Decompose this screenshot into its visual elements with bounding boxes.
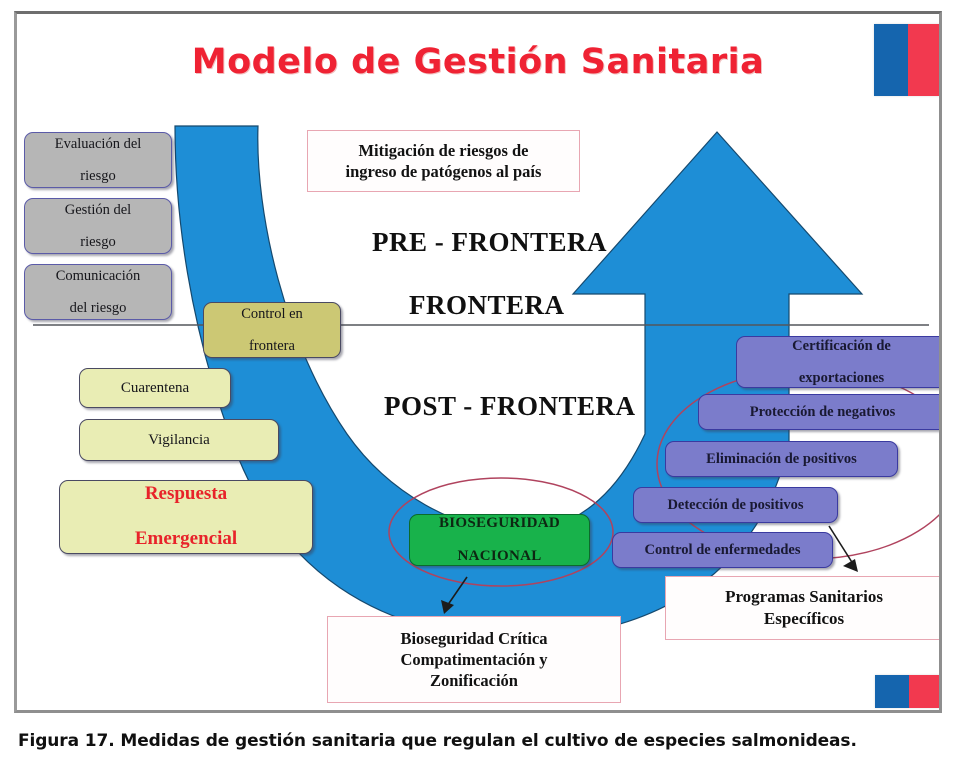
node-vigilancia[interactable]: Vigilancia <box>79 419 279 461</box>
node-label-line1: Vigilancia <box>144 432 214 449</box>
node-deteccion-de-positivos[interactable]: Detección de positivos <box>633 487 838 523</box>
node-label-line1: Control de enfermedades <box>641 542 805 558</box>
stage-label-frontera: FRONTERA <box>409 290 565 321</box>
logo-flag-red-band <box>909 675 939 708</box>
logo-flag-top-right <box>874 24 939 96</box>
stage-label-pre-frontera: PRE - FRONTERA <box>372 227 607 258</box>
callout-health-programs-line2: Específicos <box>725 608 883 630</box>
node-label-line2: exportaciones <box>788 370 895 386</box>
node-label-line1: Protección de negativos <box>746 404 900 420</box>
node-evaluacion-del-riesgo[interactable]: Evaluación del riesgo <box>24 132 172 188</box>
node-label-line1: Control en <box>237 306 307 322</box>
figure-title: Modelo de Gestión Sanitaria <box>17 42 939 82</box>
figure-canvas: Modelo de Gestión Sanitaria PRE - FRONTE… <box>17 14 939 710</box>
node-label-line1: Detección de positivos <box>663 497 807 513</box>
node-comunicacion-del-riesgo[interactable]: Comunicación del riesgo <box>24 264 172 320</box>
node-label-line2: frontera <box>237 338 307 354</box>
node-label-line2: del riesgo <box>52 300 145 316</box>
programs-callout-arrow <box>829 526 858 572</box>
node-label-line2: riesgo <box>61 234 135 250</box>
node-label-line2: riesgo <box>51 168 146 184</box>
callout-critical-biosecurity-line2: Compatimentación y <box>400 649 547 670</box>
logo-flag-bottom-right <box>875 675 939 708</box>
node-label-line1: Gestión del <box>61 202 135 218</box>
logo-flag-blue-band <box>874 24 908 96</box>
node-label-line1: Comunicación <box>52 268 145 284</box>
logo-flag-blue-band <box>875 675 909 708</box>
node-label-line1: Evaluación del <box>51 136 146 152</box>
node-gestion-del-riesgo[interactable]: Gestión del riesgo <box>24 198 172 254</box>
node-eliminacion-de-positivos[interactable]: Eliminación de positivos <box>665 441 898 477</box>
figure-frame: Modelo de Gestión Sanitaria PRE - FRONTE… <box>14 11 942 713</box>
node-certificacion-de-exportaciones[interactable]: Certificación de exportaciones <box>736 336 939 388</box>
callout-mitigation: Mitigación de riesgos de ingreso de pató… <box>307 130 580 192</box>
node-proteccion-de-negativos[interactable]: Protección de negativos <box>698 394 939 430</box>
node-bioseguridad-nacional[interactable]: BIOSEGURIDAD NACIONAL <box>409 514 590 566</box>
callout-critical-biosecurity-line1: Bioseguridad Crítica <box>400 628 547 649</box>
node-respuesta-emergencial[interactable]: Respuesta Emergencial <box>59 480 313 554</box>
node-label-line1: Respuesta <box>131 483 241 506</box>
node-label-line2: Emergencial <box>131 528 241 551</box>
callout-health-programs-line1: Programas Sanitarios <box>725 586 883 608</box>
callout-health-programs: Programas Sanitarios Específicos <box>665 576 939 640</box>
callout-critical-biosecurity: Bioseguridad Crítica Compatimentación y … <box>327 616 621 703</box>
stage-label-post-frontera: POST - FRONTERA <box>384 391 636 422</box>
callout-mitigation-line1: Mitigación de riesgos de <box>346 140 542 161</box>
logo-flag-red-band <box>908 24 939 96</box>
node-label-line1: Certificación de <box>788 338 895 354</box>
figure-caption: Figura 17. Medidas de gestión sanitaria … <box>18 731 938 751</box>
node-control-de-enfermedades[interactable]: Control de enfermedades <box>612 532 833 568</box>
callout-critical-biosecurity-line3: Zonificación <box>400 670 547 691</box>
node-control-en-frontera[interactable]: Control en frontera <box>203 302 341 358</box>
figure-root: Modelo de Gestión Sanitaria PRE - FRONTE… <box>0 0 960 768</box>
node-label-line1: Eliminación de positivos <box>702 451 861 467</box>
callout-mitigation-line2: ingreso de patógenos al país <box>346 161 542 182</box>
node-cuarentena[interactable]: Cuarentena <box>79 368 231 408</box>
node-label-line2: NACIONAL <box>435 548 564 565</box>
node-label-line1: Cuarentena <box>117 380 193 397</box>
node-label-line1: BIOSEGURIDAD <box>435 515 564 532</box>
